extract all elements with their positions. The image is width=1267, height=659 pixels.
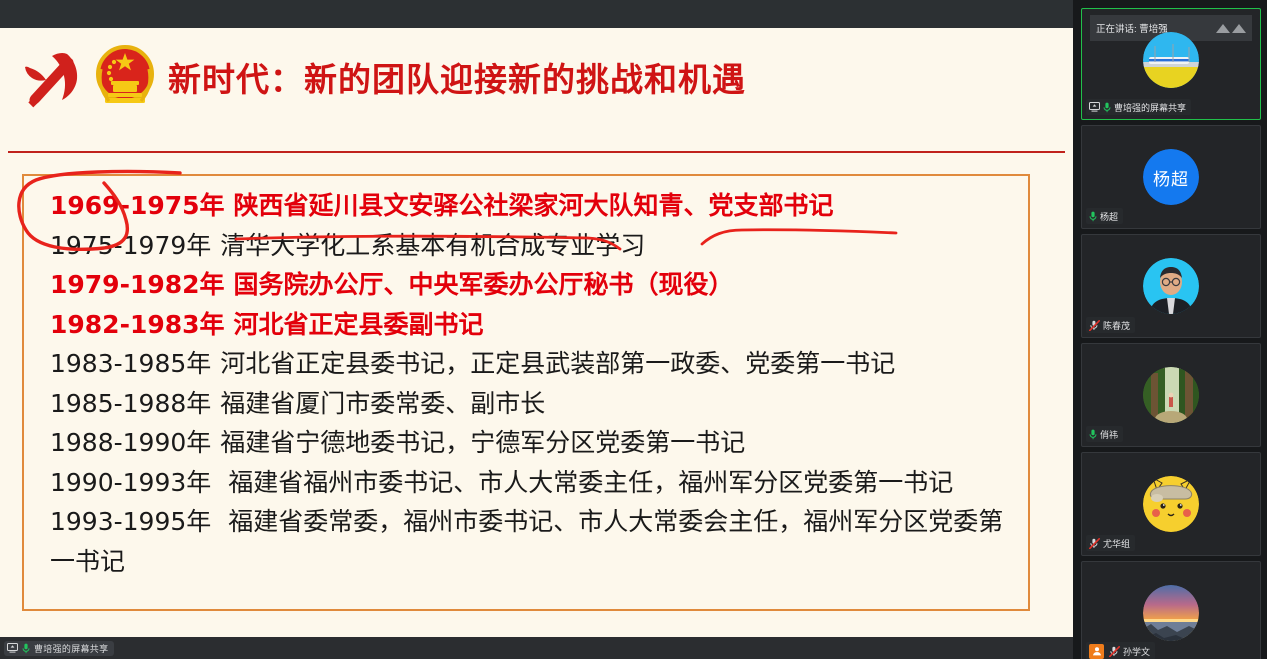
entry-years: 1979-1982年: [50, 270, 225, 299]
entry-years: 1990-1993年: [50, 468, 211, 497]
participant-name-pill: 陈春茂: [1086, 317, 1135, 333]
entry-text: 河北省正定县委书记，正定县武装部第一政委、党委第一书记: [220, 349, 895, 378]
entry-text: 福建省福州市委书记、市人大常委主任，福州军分区党委第一书记: [220, 468, 953, 497]
biography-entry: 1988-1990年福建省宁德地委书记，宁德军分区党委第一书记: [50, 423, 1014, 463]
biography-entry: 1982-1983年河北省正定县委副书记: [50, 305, 1014, 345]
avatar: [1143, 32, 1199, 88]
entry-years: 1985-1988年: [50, 389, 211, 418]
meeting-screen-share-window: 新时代：新的团队迎接新的挑战和机遇 1969-1975年陕西省延川县文安驿公社梁…: [0, 0, 1267, 659]
entry-text: 国务院办公厅、中央军委办公厅秘书（现役）: [234, 270, 734, 299]
participant-tile[interactable]: 陈春茂: [1081, 234, 1261, 338]
participant-name-pill: 孙学文: [1086, 642, 1155, 659]
entry-years: 1975-1979年: [50, 231, 211, 260]
participant-name: 俏祎: [1100, 428, 1118, 441]
top-chrome-bar: [0, 0, 1073, 28]
avatar: [1143, 585, 1199, 641]
participant-rail[interactable]: 正在讲话: 曹培强曹培强的屏幕共享杨超杨超陈春茂俏祎尤华组孙学文: [1073, 0, 1267, 659]
avatar: [1143, 258, 1199, 314]
audio-wave-icon: [1216, 24, 1246, 33]
participant-name: 尤华组: [1103, 537, 1130, 550]
biography-list-box: 1969-1975年陕西省延川县文安驿公社梁家河大队知青、党支部书记1975-1…: [22, 174, 1030, 611]
slide-title: 新时代：新的团队迎接新的挑战和机遇: [168, 53, 746, 101]
participant-name-pill: 杨超: [1086, 208, 1123, 224]
avatar: [1143, 367, 1199, 423]
entry-text: 福建省厦门市委常委、副市长: [220, 389, 545, 418]
participant-tile[interactable]: 尤华组: [1081, 452, 1261, 556]
microphone-muted-icon: [1109, 646, 1120, 657]
microphone-icon: [1103, 102, 1111, 113]
participant-name: 杨超: [1100, 210, 1118, 223]
prc-national-emblem-icon: [94, 43, 156, 111]
entry-text: 河北省正定县委副书记: [234, 310, 484, 339]
shared-slide-stage: 新时代：新的团队迎接新的挑战和机遇 1969-1975年陕西省延川县文安驿公社梁…: [0, 28, 1073, 637]
entry-years: 1988-1990年: [50, 428, 211, 457]
participant-tile[interactable]: 俏祎: [1081, 343, 1261, 447]
participant-name: 陈春茂: [1103, 319, 1130, 332]
avatar-initials: 杨超: [1143, 149, 1199, 205]
biography-entry: 1983-1985年河北省正定县委书记，正定县武装部第一政委、党委第一书记: [50, 344, 1014, 384]
active-speaker-label: 正在讲话: 曹培强: [1096, 21, 1168, 35]
biography-entry: 1993-1995年 福建省委常委，福州市委书记、市人大常委会主任，福州军分区党…: [50, 502, 1014, 581]
biography-entry: 1975-1979年清华大学化工系基本有机合成专业学习: [50, 226, 1014, 266]
participant-name-pill: 俏祎: [1086, 426, 1123, 442]
entry-text: 陕西省延川县文安驿公社梁家河大队知青、党支部书记: [234, 191, 834, 220]
biography-entry: 1990-1993年 福建省福州市委书记、市人大常委主任，福州军分区党委第一书记: [50, 463, 1014, 503]
participant-tile[interactable]: 杨超杨超: [1081, 125, 1261, 229]
biography-entry: 1979-1982年国务院办公厅、中央军委办公厅秘书（现役）: [50, 265, 1014, 305]
biography-entry: 1969-1975年陕西省延川县文安驿公社梁家河大队知青、党支部书记: [50, 186, 1014, 226]
microphone-muted-icon: [1089, 538, 1100, 549]
microphone-icon: [1089, 429, 1097, 440]
participant-name: 孙学文: [1123, 645, 1150, 658]
bottom-chrome-bar: 曹培强的屏幕共享: [0, 637, 1073, 659]
slide-header: 新时代：新的团队迎接新的挑战和机遇: [0, 28, 1073, 126]
participant-name-pill: 尤华组: [1086, 535, 1135, 551]
biography-entry: 1985-1988年福建省厦门市委常委、副市长: [50, 384, 1014, 424]
screen-share-icon: [7, 643, 18, 653]
participant-tile[interactable]: 孙学文: [1081, 561, 1261, 659]
participant-name: 曹培强的屏幕共享: [1114, 101, 1186, 114]
entry-years: 1982-1983年: [50, 310, 225, 339]
entry-text: 清华大学化工系基本有机合成专业学习: [220, 231, 645, 260]
microphone-icon: [22, 643, 30, 654]
screen-share-icon: [1089, 102, 1100, 112]
avatar: [1143, 476, 1199, 532]
screen-share-status-pill[interactable]: 曹培强的屏幕共享: [4, 641, 114, 656]
host-badge-icon: [1089, 644, 1104, 659]
entry-years: 1969-1975年: [50, 191, 225, 220]
participant-tile[interactable]: 正在讲话: 曹培强曹培强的屏幕共享: [1081, 8, 1261, 120]
entry-text: 福建省宁德地委书记，宁德军分区党委第一书记: [220, 428, 745, 457]
microphone-muted-icon: [1089, 320, 1100, 331]
participant-name-pill: 曹培强的屏幕共享: [1086, 99, 1191, 115]
entry-years: 1993-1995年: [50, 507, 211, 536]
entry-years: 1983-1985年: [50, 349, 211, 378]
cpc-hammer-sickle-emblem-icon: [18, 46, 84, 108]
screen-share-status-label: 曹培强的屏幕共享: [34, 642, 108, 655]
title-divider: [8, 151, 1065, 153]
microphone-icon: [1089, 211, 1097, 222]
avatar: 杨超: [1143, 149, 1199, 205]
